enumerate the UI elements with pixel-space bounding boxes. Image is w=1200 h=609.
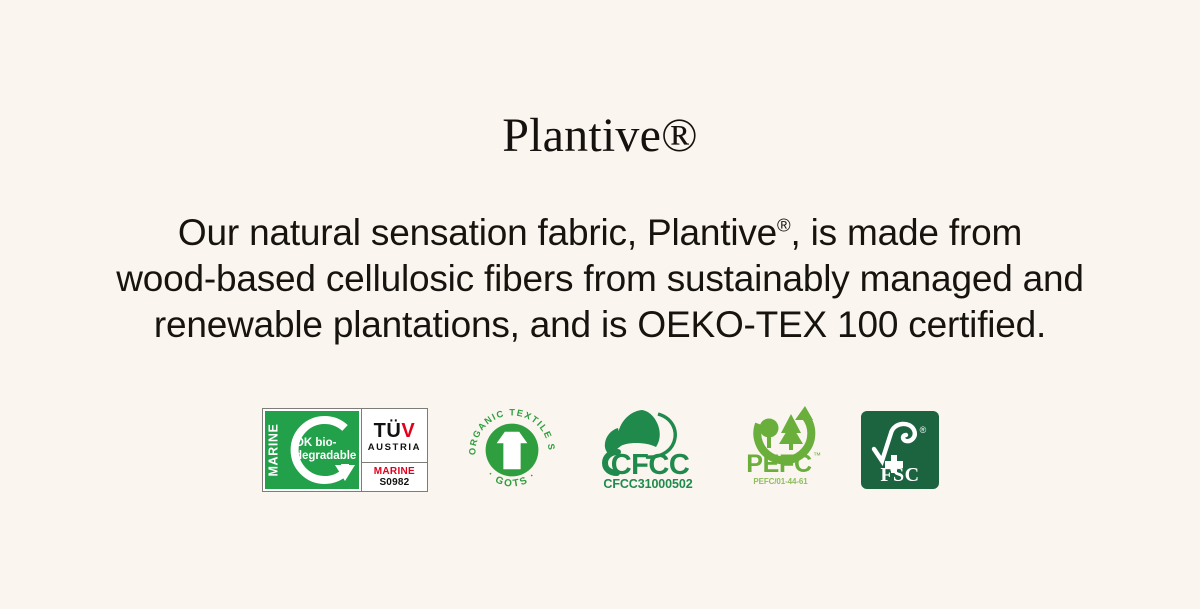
description-line-1-before: Our natural sensation fabric, Plantive — [178, 212, 777, 253]
marine-strip-label: MARINE — [266, 424, 280, 477]
tuv-austria-panel: TÜV AUSTRIA MARINE S0982 — [361, 409, 426, 491]
description-line-3: renewable plantations, and is OEKO-TEX 1… — [154, 304, 1046, 345]
ok-biodegradable-green-panel: MARINE OK bio- degradable — [263, 409, 362, 491]
tuv-austria-label: AUSTRIA — [368, 442, 421, 453]
description-text: Our natural sensation fabric, Plantive®,… — [50, 210, 1150, 348]
badge-ok-biodegradable-marine: MARINE OK bio- degradable — [262, 408, 428, 492]
badge-cfcc: CFCC CFCC31000502 — [596, 404, 701, 496]
page-title: Plantive® — [0, 108, 1200, 163]
pefc-trademark-mark: ™ — [813, 451, 821, 460]
pefc-wordmark-text: PEFC — [746, 450, 812, 476]
cfcc-wordmark-text: CFCC — [611, 449, 690, 476]
certification-badge-row: MARINE OK bio- degradable — [0, 400, 1200, 500]
ok-biodegradable-claim-panel: OK bio- degradable — [282, 411, 360, 489]
cfcc-code: CFCC31000502 — [603, 477, 692, 491]
ok-biodegradable-claim: OK bio- degradable — [295, 437, 359, 463]
fsc-registered-mark: ® — [919, 425, 926, 435]
ok-claim-line-1: OK bio- — [295, 437, 356, 450]
tuv-letters-tu: TÜ — [374, 420, 402, 442]
description-line-2: wood-based cellulosic fibers from sustai… — [116, 258, 1084, 299]
badge-pefc: PEFC ™ PEFC/01-44-61 — [737, 404, 825, 496]
fsc-logo-icon: ® FSC — [861, 411, 939, 489]
plantive-fabric-info-panel: Plantive® Our natural sensation fabric, … — [0, 0, 1200, 609]
tuv-austria-logo: TÜV AUSTRIA — [361, 409, 426, 463]
description-line-1: Our natural sensation fabric, Plantive®,… — [178, 212, 1022, 253]
pefc-code: PEFC/01-44-61 — [753, 477, 807, 486]
badge-fsc: ® FSC — [861, 411, 939, 489]
tuv-letter-v: V — [401, 420, 415, 442]
description-line-1-after: , is made from — [790, 212, 1022, 253]
tuv-marine-registration: MARINE S0982 — [361, 463, 426, 491]
ok-claim-line-2: degradable — [295, 450, 356, 463]
marine-vertical-strip: MARINE — [265, 411, 282, 489]
tuv-marine-label: MARINE — [374, 466, 415, 477]
tuv-wordmark: TÜV — [374, 421, 416, 441]
pefc-logo-icon: PEFC ™ — [739, 404, 823, 476]
tuv-registration-code: S0982 — [379, 477, 409, 488]
registered-mark-superscript: ® — [777, 215, 790, 236]
cfcc-logo-icon: CFCC — [598, 404, 698, 476]
badge-gots: GLOBAL ORGANIC TEXTILE STANDARD · GOTS · — [464, 402, 560, 498]
gots-logo-icon: GLOBAL ORGANIC TEXTILE STANDARD · GOTS · — [464, 402, 560, 498]
fsc-wordmark-text: FSC — [880, 464, 919, 486]
ok-biodegradable-logo: MARINE OK bio- degradable — [262, 408, 428, 492]
